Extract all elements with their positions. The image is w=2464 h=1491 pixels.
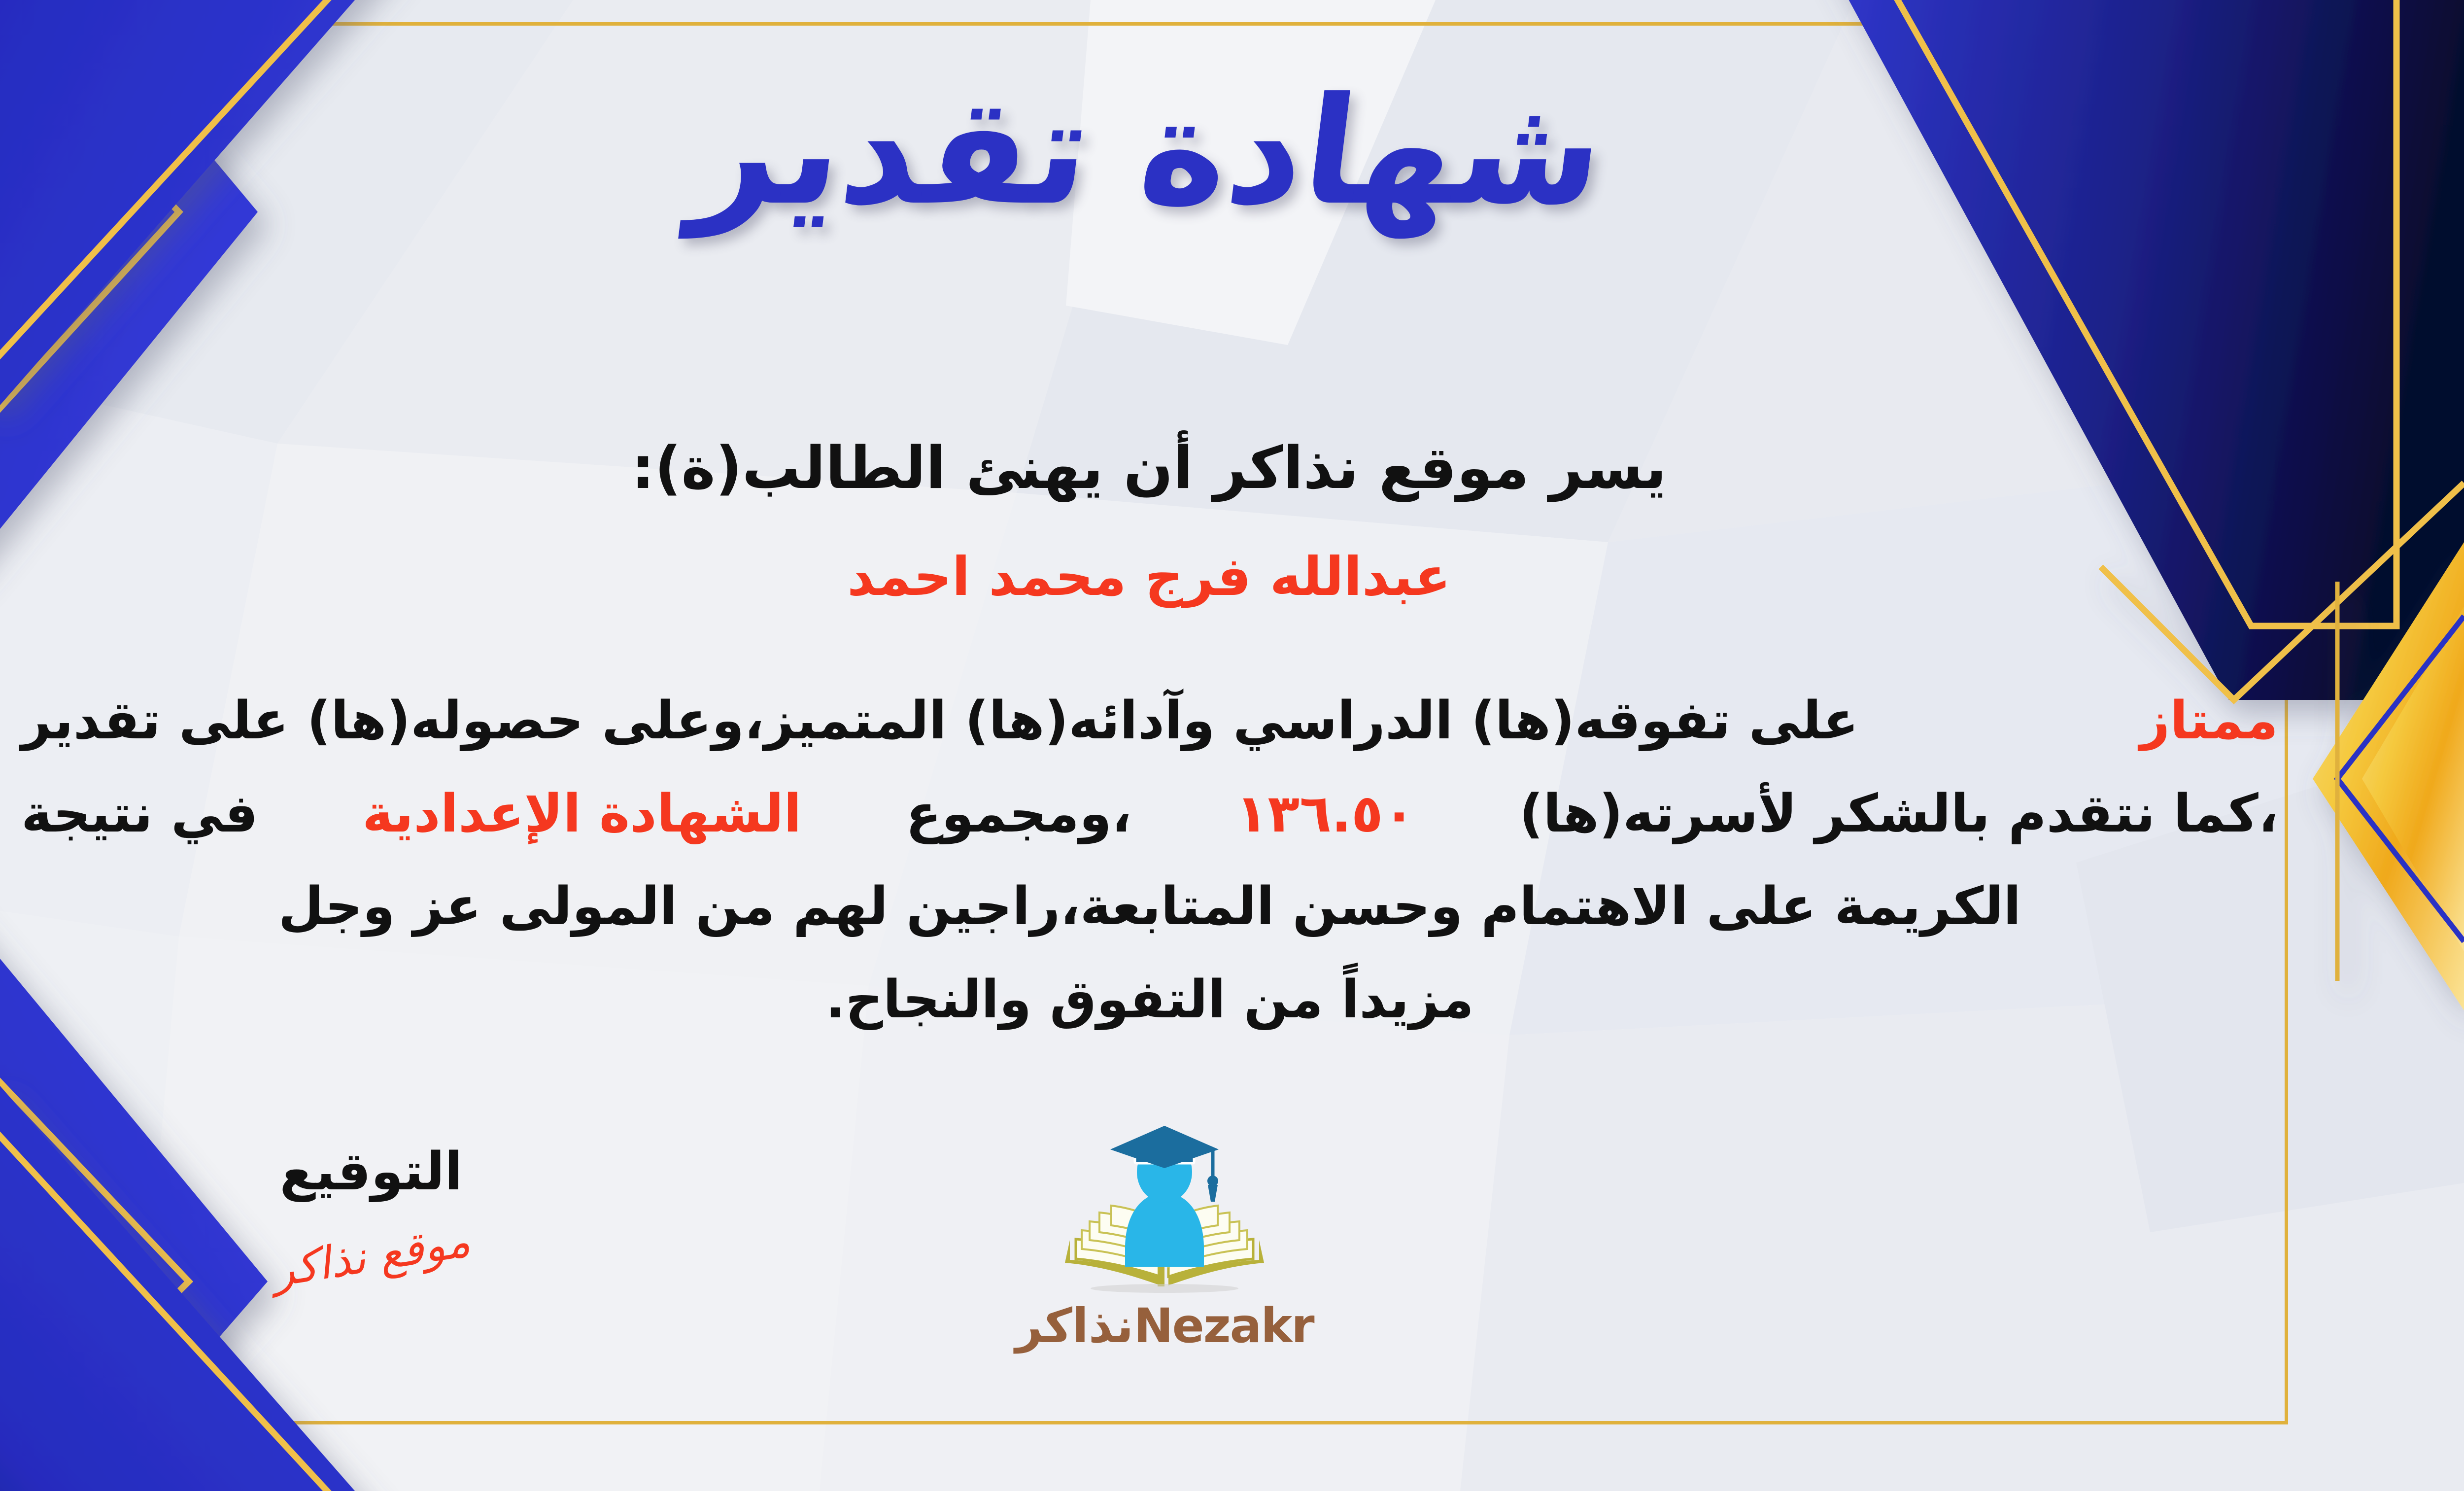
signature-block: التوقيع موقع نذاكر [199, 1141, 544, 1282]
body-line-1: ممتاز على تفوقه(ها) الدراسي وآدائه(ها) ا… [21, 674, 2278, 767]
signature-label: التوقيع [199, 1141, 544, 1202]
graduate-body [1125, 1193, 1204, 1267]
certificate-content: شهادة تقدير يسر موقع نذاكر أن يهنئ الطال… [0, 0, 2464, 1491]
body-line-4: مزيداً من التفوق والنجاح. [21, 953, 2278, 1046]
certificate-document: شهادة تقدير يسر موقع نذاكر أن يهنئ الطال… [0, 0, 2464, 1491]
grade-value: ممتاز [2140, 674, 2278, 767]
grad-cap-board [1110, 1126, 1219, 1168]
page-title: شهادة تقدير [0, 74, 2464, 229]
grad-cap-tassel [1208, 1185, 1218, 1202]
graduate-book-icon [1056, 1119, 1273, 1296]
exam-name: الشهادة الإعدادية [362, 767, 801, 861]
brand-logo: Nezakrنذاكر [967, 1119, 1362, 1353]
body-line-2: ،كما نتقدم بالشكر لأسرته(ها) ١٣٦.٥٠ ،ومج… [21, 767, 2278, 861]
body-line-2-head: في نتيجة [21, 767, 258, 861]
total-score: ١٣٦.٥٠ [1236, 767, 1415, 861]
body-line-2-tail: ،كما نتقدم بالشكر لأسرته(ها) [1519, 767, 2278, 861]
logo-wordmark: Nezakrنذاكر [967, 1298, 1362, 1353]
signature-mark: موقع نذاكر [269, 1215, 473, 1297]
body-line-1-text: على تفوقه(ها) الدراسي وآدائه(ها) المتميز… [21, 674, 1858, 767]
student-name: عبدالله فرج محمد احمد [0, 546, 2464, 608]
intro-line: يسر موقع نذاكر أن يهنئ الطالب(ة): [0, 434, 2464, 502]
body-line-2-mid: ،ومجموع [906, 767, 1131, 861]
body-line-3: الكريمة على الاهتمام وحسن المتابعة،راجين… [21, 860, 2278, 953]
body-paragraph: ممتاز على تفوقه(ها) الدراسي وآدائه(ها) ا… [21, 674, 2278, 1046]
